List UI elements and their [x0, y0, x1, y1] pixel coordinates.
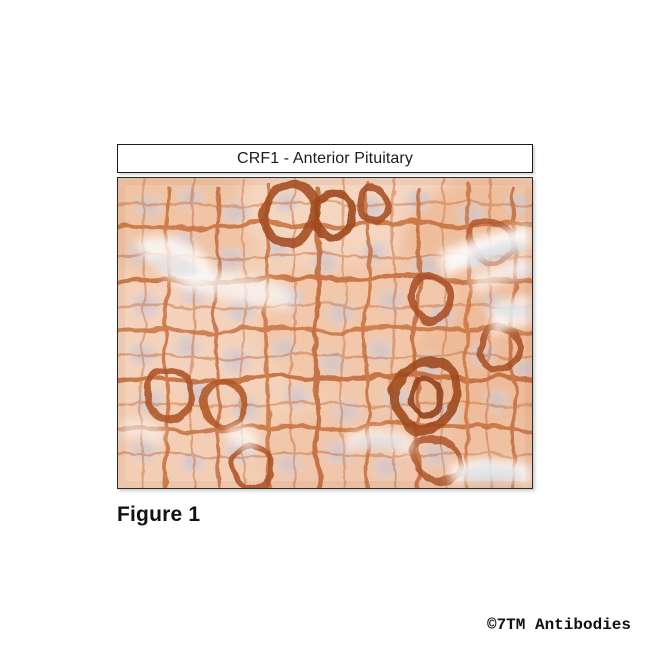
- micrograph-image: [117, 177, 533, 489]
- copyright-notice: ©7TM Antibodies: [487, 616, 631, 634]
- figure-caption: Figure 1: [117, 503, 533, 527]
- figure-title-text: CRF1 - Anterior Pituitary: [237, 150, 413, 168]
- figure-block: CRF1 - Anterior Pituitary: [117, 144, 533, 527]
- figure-title-bar: CRF1 - Anterior Pituitary: [117, 144, 533, 173]
- micrograph-canvas: [118, 178, 532, 488]
